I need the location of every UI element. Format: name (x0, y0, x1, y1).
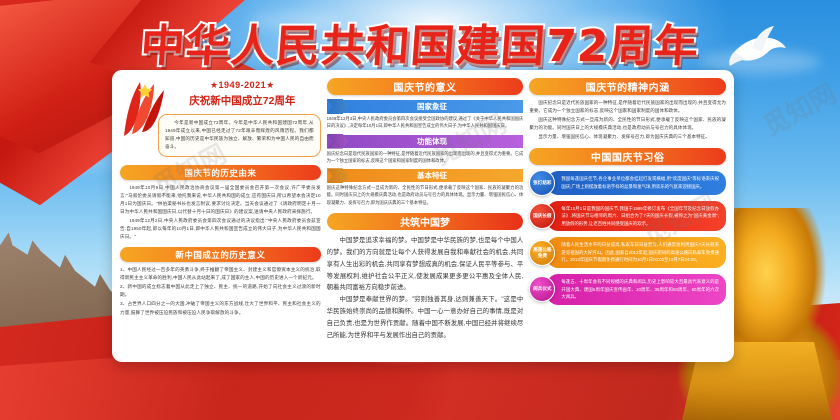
intro-quote-box: 今年是新中国成立72周年。今年是中华人民共和国建国72周年,从1949年成立以来… (158, 114, 321, 157)
badge-long-holiday: 国庆长假 (529, 203, 555, 229)
intro-quote-text: 今年是新中国成立72周年。今年是中华人民共和国建国72周年,从1949年成立以来… (165, 119, 314, 151)
content-board: ★1949-2021★ 庆祝新中国成立72周年 今年是新中国成立72周年。今年是… (112, 70, 734, 362)
chinese-dream-body: 中国梦是追求幸福的梦。中国梦是中华民族的梦,也是每个中国人的梦。我们的方向就是让… (327, 235, 524, 342)
flag-star-emblem-icon (120, 78, 166, 140)
history-origin-p2: 1949年12月2日,中央人民政府委员会第四次会议通过的决议指出:"中央人民政府… (120, 217, 321, 241)
basic-features-text: 国庆这种特殊纪念方式一旦成为新的、全民性的节日形式,便承载了反映这个国家、民族的… (327, 184, 524, 206)
column-right: 国庆节的精神内涵 国庆纪念日是近代民族国家的一种特征,是伴随着近代民族国家的出现… (529, 78, 726, 356)
section-header-meaning: 国庆节的意义 (327, 78, 524, 95)
significance-p1: 1、中国人民经过一百多年的英勇斗争,终于推翻了帝国主义、封建主义和官僚资本主义的… (120, 266, 321, 282)
ribbon-national-symbol: 国家象征 (327, 100, 524, 113)
ribbon-function-embodiment: 功能体现 (327, 135, 524, 148)
left-heading: ★1949-2021★ 庆祝新中国成立72周年 (164, 78, 321, 108)
national-symbol-text: 1949年12月3日,中央人民政府委员会第四次会议接受全国政协的建议,通过了《关… (327, 115, 524, 130)
section-header-history-origin: 国庆节的历史由来 (120, 165, 321, 180)
custom-item: 每年10月1日是我国的国庆节,我国于1999年修订发布《全国年节及纪念日放假办法… (529, 201, 726, 232)
spirit-body: 国庆纪念日是近代民族国家的一种特征,是伴随着近代民族国家的出现而出现的,并且变得… (529, 99, 726, 140)
significance-p2: 2、新中国的成立标志着中国从此走上了独立、民主、统一的道路,开始了向社会主义过渡… (120, 283, 321, 299)
custom-text-free-highway: 随着人民生活水平的日益提高,私家车日日益普及,人们通常会利用国庆7天长假来游览祖… (547, 237, 726, 268)
anniversary-subtitle: 庆祝新中国成立72周年 (164, 93, 321, 108)
spirit-p2: 国庆这种特殊纪念方式一旦成为新的、全民性的节日形式,便承载了反映这个国家、民族的… (529, 116, 726, 132)
intro-quote-paragraph: 今年是新中国成立72周年。今年是中华人民共和国建国72周年,从1949年成立以来… (165, 119, 314, 151)
title-area: 中华人民共和国建国72周年 (0, 10, 840, 74)
badge-lanterns: 张灯结彩 (529, 170, 555, 196)
custom-item: 每逢五、十周年会有不同规模的庆典和阅兵,历史上影响较大且最具代表意义的是开国大典… (529, 274, 726, 305)
historic-significance-body: 1、中国人民经过一百多年的英勇斗争,终于推翻了帝国主义、封建主义和官僚资本主义的… (120, 266, 321, 316)
custom-text-military-parade: 每逢五、十周年会有不同规模的庆典和阅兵,历史上影响较大且最具代表意义的是开国大典… (547, 274, 726, 305)
history-origin-p1: 1949年10月9日,中国人民政治协商会议第一届全国委员会召开第一次会议,许广平… (120, 184, 321, 216)
custom-item: 我国每逢国庆佳节,各企事业单位都会挂起打发或横幅,用"欢度国庆"等标语来庆祝国庆… (529, 171, 726, 194)
chinese-dream-p1: 中国梦是追求幸福的梦。中国梦是中华民族的梦,也是每个中国人的梦。我们的方向就是让… (327, 235, 524, 294)
badge-military-parade: 阅兵仪式 (529, 276, 555, 302)
custom-text-long-holiday: 每年10月1日是我国的国庆节,我国于1999年修订发布《全国年节及纪念日放假办法… (547, 201, 726, 232)
column-left: ★1949-2021★ 庆祝新中国成立72周年 今年是新中国成立72周年。今年是… (120, 78, 321, 356)
page-title: 中华人民共和国建国72周年 (139, 10, 702, 74)
custom-item: 随着人民生活水平的日益提高,私家车日日益普及,人们通常会利用国庆7天长假来游览祖… (529, 237, 726, 268)
spirit-p3: 显示力量、增强国民信心、体现凝聚力、发挥号召力,即为国庆庆典的三个基本特征。 (529, 133, 726, 141)
column-middle: 国庆节的意义 国家象征 1949年12月3日,中央人民政府委员会第四次会议接受全… (327, 78, 524, 356)
section-header-historic-significance: 新中国成立的历史意义 (120, 247, 321, 262)
custom-text-lanterns: 我国每逢国庆佳节,各企事业单位都会挂起打发或横幅,用"欢度国庆"等标语来庆祝国庆… (547, 171, 726, 194)
poster-canvas: 中华人民共和国建国72周年 ★1949-2021★ 庆祝新中国成立72周年 今年… (0, 0, 840, 420)
ribbon-basic-features: 基本特征 (327, 169, 524, 182)
section-header-chinese-dream: 共筑中国梦 (327, 213, 524, 230)
section-header-spirit: 国庆节的精神内涵 (529, 78, 726, 95)
section-header-customs: 中国国庆节习俗 (529, 148, 726, 165)
spirit-p1: 国庆纪念日是近代民族国家的一种特征,是伴随着近代民族国家的出现而出现的,并且变得… (529, 99, 726, 115)
significance-p3: 3、占世界人口四分之一的大国,冲破了帝国主义的东方战线,壮大了世界和平、民主和社… (120, 300, 321, 316)
chinese-dream-p2: 中国梦是奉献世界的梦。"穷则独善其身,达则兼善天下。"这是中华民族始终崇尚的品德… (327, 294, 524, 341)
function-embodiment-text: 国庆纪念日是现代民族国家的一种特征,是伴随着近代民族国家的出现而出现的,并且变得… (327, 150, 524, 165)
badge-free-highway: 高速公路免费 (529, 240, 555, 266)
history-origin-body: 1949年10月9日,中国人民政治协商会议第一届全国委员会召开第一次会议,许广平… (120, 184, 321, 241)
anniversary-years: ★1949-2021★ (164, 80, 321, 91)
